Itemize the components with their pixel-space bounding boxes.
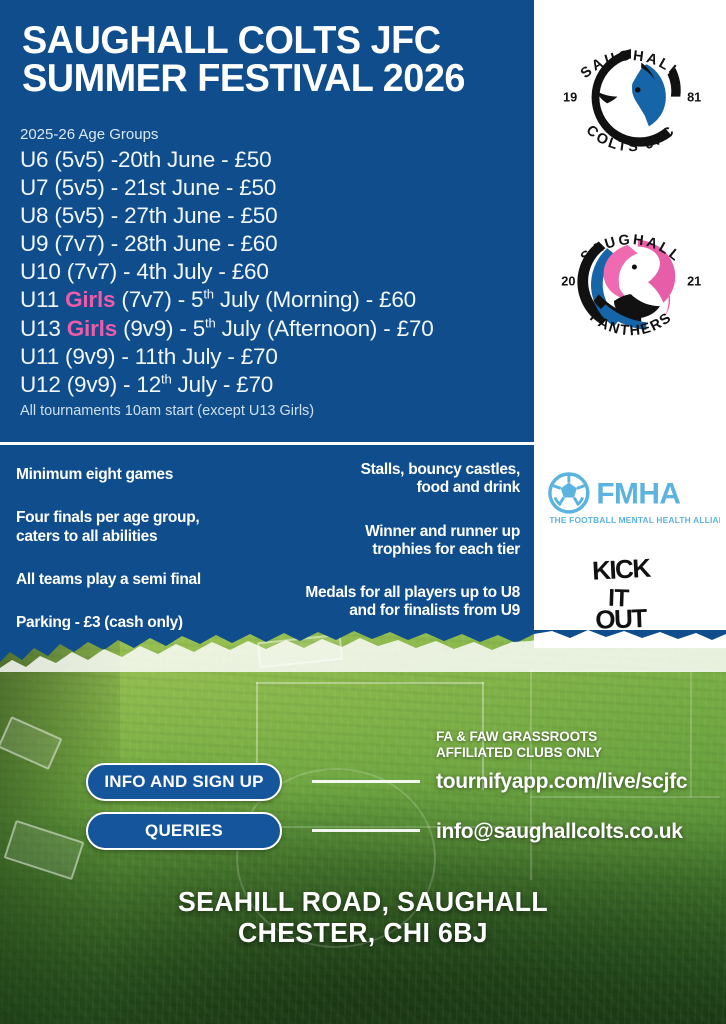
fa-note-line-1: FA & FAW GRASSROOTS: [436, 729, 716, 745]
kio-line-1: KICK: [591, 553, 652, 586]
feature-item-right: Winner and runner uptrophies for each ti…: [281, 523, 520, 560]
age-groups-section: 2025-26 Age Groups U6 (5v5) -20th June -…: [20, 126, 540, 421]
girls-tag: Girls: [65, 287, 115, 312]
contact-email[interactable]: info@saughallcolts.co.uk: [436, 820, 726, 844]
age-group-row: U10 (7v7) - 4th July - £60: [20, 258, 540, 286]
connector-line-info: [312, 780, 420, 783]
kick-it-out-logo: KICK IT OUT: [588, 552, 680, 632]
age-group-row: U11 Girls (7v7) - 5th July (Morning) - £…: [20, 286, 540, 314]
features-column-right: Stalls, bouncy castles,food and drinkWin…: [267, 458, 534, 638]
age-group-row: U6 (5v5) -20th June - £50: [20, 146, 540, 174]
fa-note-line-2: AFFILIATED CLUBS ONLY: [436, 745, 716, 761]
queries-button[interactable]: QUERIES: [86, 812, 282, 850]
saughall-colts-jfc-crest: SAUGHALL COLTS JFC 19 81: [546, 14, 716, 186]
age-groups-list: U6 (5v5) -20th June - £50U7 (5v5) - 21st…: [20, 146, 540, 399]
saughall-panthers-crest: SAUGHALL PANTHERS 20 21: [546, 198, 716, 370]
features-section: Minimum eight gamesFour finals per age g…: [0, 458, 534, 638]
colts-year-right: 81: [687, 90, 701, 105]
info-and-sign-up-button[interactable]: INFO AND SIGN UP: [86, 763, 282, 801]
venue-address: SEAHILL ROAD, SAUGHALL CHESTER, CHI 6BJ: [0, 886, 726, 949]
fmha-strapline: THE FOOTBALL MENTAL HEALTH ALLIANCE: [549, 515, 720, 525]
fmha-acronym: FMHA: [596, 477, 680, 510]
feature-item-left: Minimum eight games: [16, 466, 253, 484]
address-line-2: CHESTER, CHI 6BJ: [18, 917, 708, 948]
panthers-year-right: 21: [687, 274, 701, 289]
title-line-1: SAUGHALL COLTS JFC: [22, 22, 507, 60]
panthers-year-left: 20: [561, 274, 575, 289]
section-divider: [0, 442, 534, 445]
poster-root: SAUGHALL COLTS JFC SUMMER FESTIVAL 2026 …: [0, 0, 726, 1024]
kio-line-3: OUT: [595, 603, 648, 632]
age-groups-footnote: All tournaments 10am start (except U13 G…: [20, 402, 540, 421]
fa-affiliation-note: FA & FAW GRASSROOTS AFFILIATED CLUBS ONL…: [436, 729, 716, 762]
age-group-row: U13 Girls (9v9) - 5th July (Afternoon) -…: [20, 315, 540, 343]
feature-item-right: Medals for all players up to U8and for f…: [281, 584, 520, 621]
age-groups-heading: 2025-26 Age Groups: [20, 126, 540, 145]
page-title: SAUGHALL COLTS JFC SUMMER FESTIVAL 2026: [22, 22, 522, 98]
bottom-content: INFO AND SIGN UP QUERIES FA & FAW GRASSR…: [0, 630, 726, 1024]
football-icon: [550, 474, 588, 512]
fmha-logo: FMHA THE FOOTBALL MENTAL HEALTH ALLIANCE: [544, 470, 720, 532]
age-group-row: U12 (9v9) - 12th July - £70: [20, 371, 540, 399]
features-column-left: Minimum eight gamesFour finals per age g…: [0, 458, 267, 638]
address-line-1: SEAHILL ROAD, SAUGHALL: [18, 886, 708, 917]
colts-year-left: 19: [563, 90, 577, 105]
signup-url[interactable]: tournifyapp.com/live/scjfc: [436, 770, 726, 794]
girls-tag: Girls: [67, 316, 117, 341]
age-group-row: U9 (7v7) - 28th June - £60: [20, 230, 540, 258]
feature-item-right: Stalls, bouncy castles,food and drink: [281, 461, 520, 498]
feature-item-left: Four finals per age group,caters to all …: [16, 509, 253, 546]
feature-item-left: All teams play a semi final: [16, 571, 253, 589]
connector-line-queries: [312, 829, 420, 832]
age-group-row: U8 (5v5) - 27th June - £50: [20, 202, 540, 230]
title-line-2: SUMMER FESTIVAL 2026: [22, 60, 507, 98]
age-group-row: U7 (5v5) - 21st June - £50: [20, 174, 540, 202]
age-group-row: U11 (9v9) - 11th July - £70: [20, 343, 540, 371]
